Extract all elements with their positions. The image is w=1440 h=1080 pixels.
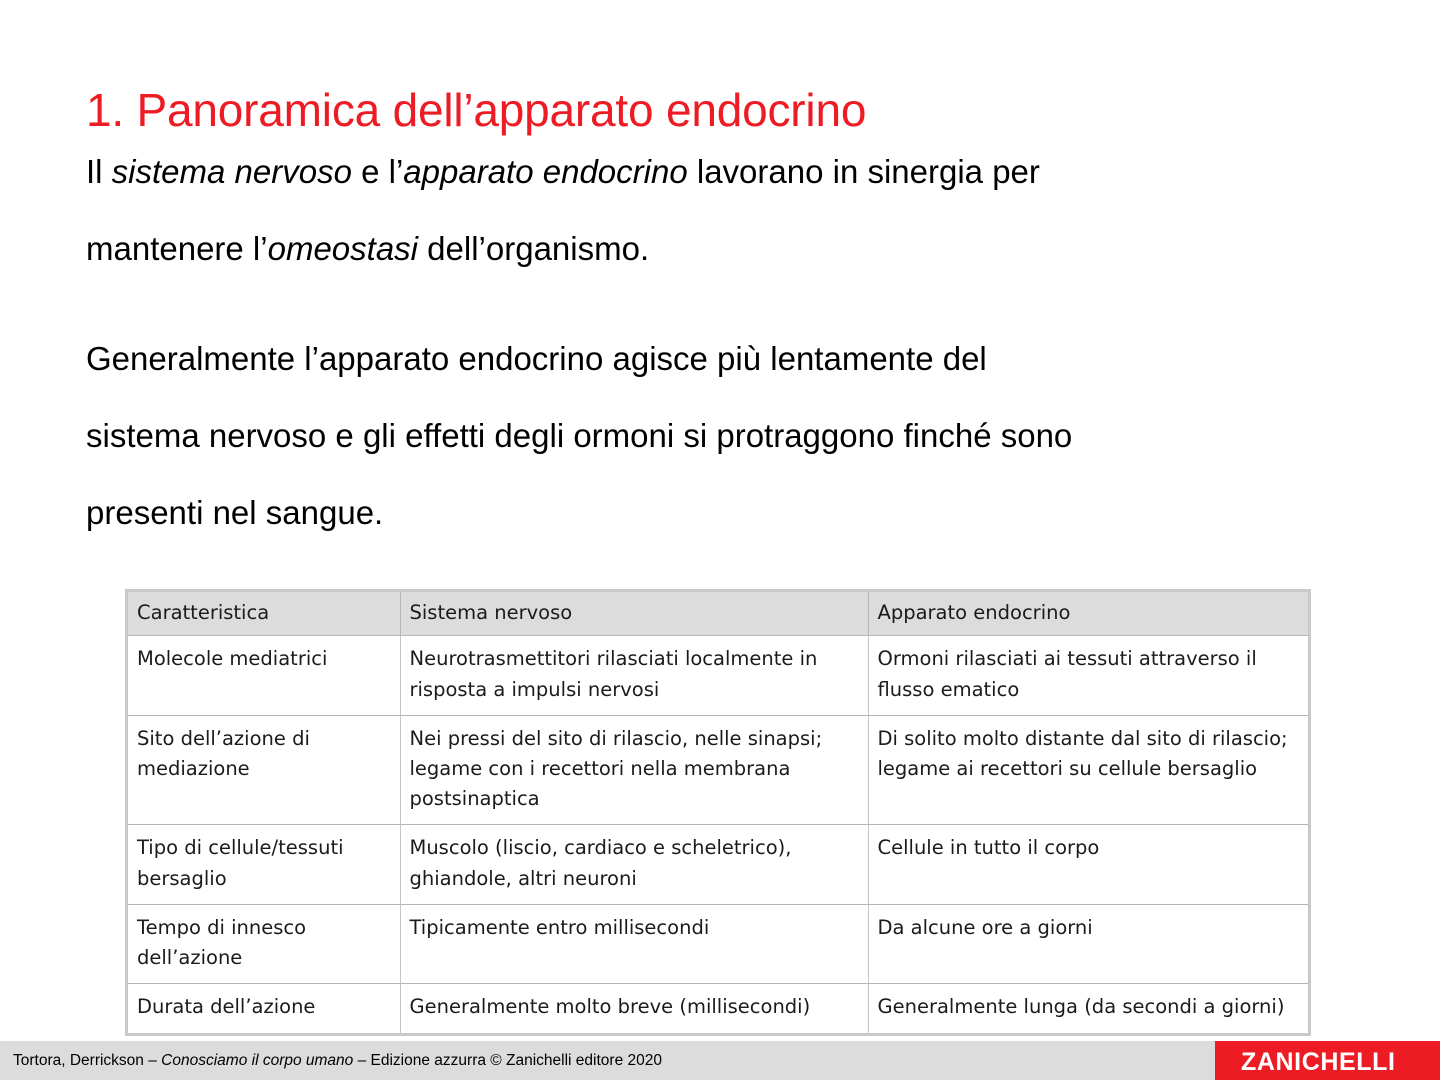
table-cell-nervous: Tipicamente entro millisecondi <box>400 904 868 983</box>
comparison-table-container: Caratteristica Sistema nervoso Apparato … <box>125 589 1311 1036</box>
body-text-line: presenti nel sangue. <box>86 474 1336 551</box>
plain-text: presenti nel sangue. <box>86 494 383 531</box>
table-cell-feature: Durata dell’azione <box>128 984 400 1033</box>
emphasis-text: omeostasi <box>268 230 418 267</box>
plain-text: lavorano in sinergia per <box>688 153 1040 190</box>
table-cell-endocrine: Generalmente lunga (da secondi a giorni) <box>868 984 1308 1033</box>
table-body: Molecole mediatrici Neurotrasmettitori r… <box>128 636 1308 1033</box>
plain-text: mantenere l’ <box>86 230 268 267</box>
table-row: Tipo di cellule/tessuti bersaglio Muscol… <box>128 825 1308 904</box>
table-header-cell-apparato-endocrino: Apparato endocrino <box>868 592 1308 636</box>
emphasis-text: sistema nervoso <box>112 153 352 190</box>
table-row: Tempo di innesco dell’azione Tipicamente… <box>128 904 1308 983</box>
plain-text: dell’organismo. <box>418 230 649 267</box>
body-text-line: Generalmente l’apparato endocrino agisce… <box>86 320 1336 397</box>
table-row: Molecole mediatrici Neurotrasmettitori r… <box>128 636 1308 715</box>
table-cell-feature: Tipo di cellule/tessuti bersaglio <box>128 825 400 904</box>
body-text-line: mantenere l’omeostasi dell’organismo. <box>86 210 1336 287</box>
table-row: Sito dell’azione di mediazione Nei press… <box>128 715 1308 825</box>
table-cell-feature: Sito dell’azione di mediazione <box>128 715 400 825</box>
table-cell-endocrine: Cellule in tutto il corpo <box>868 825 1308 904</box>
page-title: 1. Panoramica dell’apparato endocrino <box>86 85 1356 137</box>
table-cell-nervous: Generalmente molto breve (millisecondi) <box>400 984 868 1033</box>
plain-text: – Edizione azzurra © Zanichelli editore … <box>353 1052 662 1069</box>
publisher-logo: ZANICHELLI <box>1215 1041 1440 1080</box>
slide-canvas: 1. Panoramica dell’apparato endocrino Il… <box>0 0 1440 1080</box>
plain-text: e l’ <box>352 153 403 190</box>
comparison-table: Caratteristica Sistema nervoso Apparato … <box>128 592 1308 1033</box>
table-cell-endocrine: Da alcune ore a giorni <box>868 904 1308 983</box>
plain-text: Il <box>86 153 112 190</box>
plain-text: sistema nervoso e gli effetti degli ormo… <box>86 417 1072 454</box>
table-header-cell-sistema-nervoso: Sistema nervoso <box>400 592 868 636</box>
table-cell-nervous: Nei pressi del sito di rilascio, nelle s… <box>400 715 868 825</box>
emphasis-text: Conosciamo il corpo umano <box>161 1052 353 1069</box>
table-cell-nervous: Neurotrasmettitori rilasciati localmente… <box>400 636 868 715</box>
table-cell-endocrine: Di solito molto distante dal sito di ril… <box>868 715 1308 825</box>
table-header-cell-caratteristica: Caratteristica <box>128 592 400 636</box>
publisher-logo-text: ZANICHELLI <box>1241 1048 1396 1077</box>
body-paragraph-2: Generalmente l’apparato endocrino agisce… <box>86 320 1336 551</box>
footer-bar: Tortora, Derrickson – Conosciamo il corp… <box>0 1041 1440 1080</box>
table-row: Durata dell’azione Generalmente molto br… <box>128 984 1308 1033</box>
plain-text: Tortora, Derrickson – <box>13 1052 161 1069</box>
plain-text: Generalmente l’apparato endocrino agisce… <box>86 340 987 377</box>
table-header: Caratteristica Sistema nervoso Apparato … <box>128 592 1308 636</box>
body-paragraph-1: Il sistema nervoso e l’apparato endocrin… <box>86 133 1336 287</box>
table-cell-feature: Molecole mediatrici <box>128 636 400 715</box>
body-text-line: Il sistema nervoso e l’apparato endocrin… <box>86 133 1336 210</box>
table-cell-endocrine: Ormoni rilasciati ai tessuti attraverso … <box>868 636 1308 715</box>
table-cell-feature: Tempo di innesco dell’azione <box>128 904 400 983</box>
emphasis-text: apparato endocrino <box>403 153 687 190</box>
table-header-row: Caratteristica Sistema nervoso Apparato … <box>128 592 1308 636</box>
footer-credit-text: Tortora, Derrickson – Conosciamo il corp… <box>13 1052 662 1070</box>
body-text-line: sistema nervoso e gli effetti degli ormo… <box>86 397 1336 474</box>
table-cell-nervous: Muscolo (liscio, cardiaco e scheletrico)… <box>400 825 868 904</box>
